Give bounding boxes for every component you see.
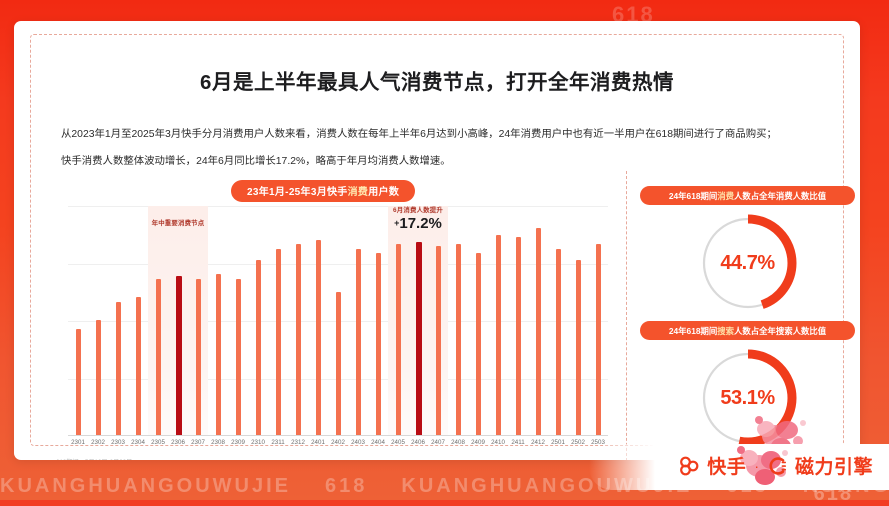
x-axis-tick-label: 2311 (271, 439, 284, 446)
chart-bar (456, 244, 461, 435)
x-axis-tick-label: 2411 (511, 439, 524, 446)
x-axis-tick-label: 2402 (331, 439, 345, 446)
chart-annotation-june-growth: 6月消费人数提升 +17.2% (371, 205, 465, 233)
pill-prefix: 24年618期间 (669, 191, 717, 201)
summary-line-1: 从2023年1月至2025年3月快手分月消费用户人数来看，消费人数在每年上半年6… (61, 121, 851, 148)
chart-bar (436, 246, 441, 435)
chart-bar (496, 235, 501, 435)
vertical-divider (626, 171, 627, 460)
brand-name-kuaishou: 快手 (707, 452, 746, 479)
pill-highlight: 搜索 (717, 326, 734, 336)
bar-chart-panel: 23年1月-25年3月快手消费用户数 230123022303230423052… (56, 171, 616, 460)
chart-bar (356, 249, 361, 435)
donut-title-pill: 24年618期间搜索人数占全年搜索人数比值 (640, 321, 855, 340)
x-axis-tick-label: 2409 (471, 439, 485, 446)
x-axis-tick-label: 2502 (571, 439, 585, 446)
chart-bar (336, 292, 341, 435)
donut-chart: 44.7% (695, 210, 801, 316)
bar-chart-plot-area (68, 206, 608, 436)
chart-bar (396, 244, 401, 435)
chart-bar (116, 302, 121, 435)
x-axis-tick-label: 2410 (491, 439, 505, 446)
x-axis-tick-label: 2303 (111, 439, 125, 446)
watermark-token: KUANGHUANGOUWUJIE (0, 475, 291, 497)
x-axis-tick-label: 2302 (91, 439, 105, 446)
x-axis-tick-label: 2412 (531, 439, 545, 446)
brand-logos: 快手 · 磁力引擎 (679, 452, 873, 479)
chart-annotation-mid-year: 年中重要消费节点 (133, 218, 223, 227)
chart-footnote: 618期间：5月10日-6月20日 (56, 457, 132, 460)
brand-name-magnetic-engine: 磁力引擎 (795, 452, 873, 479)
annotation-caption: 年中重要消费节点 (133, 218, 223, 227)
chart-bar-highlighted (176, 276, 182, 435)
x-axis-tick-label: 2408 (451, 439, 465, 446)
legend-highlight: 消费 (348, 187, 369, 198)
chart-bar (236, 279, 241, 435)
chart-bar (536, 228, 541, 435)
x-axis-tick-label: 2310 (251, 439, 265, 446)
chart-bar (476, 253, 481, 435)
chart-bar (596, 244, 601, 435)
annotation-value: +17.2% (371, 214, 465, 233)
pill-prefix: 24年618期间 (669, 326, 717, 336)
x-axis-tick-label: 2404 (371, 439, 385, 446)
pill-suffix: 人数占全年消费人数比值 (734, 191, 826, 201)
x-axis-labels: 2301230223032304230523062307230823092310… (68, 439, 608, 453)
brand-618-watermark: 618 (814, 483, 853, 506)
chart-bar-highlighted (416, 242, 422, 435)
chart-bar (136, 297, 141, 435)
chart-legend-pill: 23年1月-25年3月快手消费用户数 (231, 180, 415, 202)
chart-bar (576, 260, 581, 435)
x-axis-tick-label: 2309 (231, 439, 245, 446)
x-axis-tick-label: 2301 (71, 439, 85, 446)
content-card: 6月是上半年最具人气消费节点，打开全年消费热情 从2023年1月至2025年3月… (14, 21, 860, 460)
chart-bar (516, 237, 521, 435)
summary-paragraph: 从2023年1月至2025年3月快手分月消费用户人数来看，消费人数在每年上半年6… (61, 121, 851, 175)
brand-separator-dot: · (754, 458, 759, 474)
x-axis-tick-label: 2406 (411, 439, 425, 446)
x-axis-tick-label: 2307 (191, 439, 205, 446)
legend-prefix: 23年1月-25年3月快手 (247, 187, 348, 198)
x-axis-tick-label: 2306 (171, 439, 185, 446)
chart-bar (556, 249, 561, 435)
x-axis-tick-label: 2405 (391, 439, 405, 446)
chart-bar (76, 329, 81, 435)
chart-bar (296, 244, 301, 435)
chart-bar (216, 274, 221, 435)
chart-x-axis (68, 435, 608, 436)
x-axis-tick-label: 2308 (211, 439, 225, 446)
x-axis-tick-label: 2312 (291, 439, 305, 446)
kuaishou-logo-icon (679, 456, 699, 476)
pill-highlight: 消费 (717, 191, 734, 201)
chart-bar (376, 253, 381, 435)
chart-bar (316, 240, 321, 436)
x-axis-tick-label: 2403 (351, 439, 365, 446)
chart-bar (156, 279, 161, 435)
legend-suffix: 用户数 (368, 187, 399, 198)
donut-title-pill: 24年618期间消费人数占全年消费人数比值 (640, 186, 855, 205)
chart-bar (196, 279, 201, 435)
x-axis-tick-label: 2304 (131, 439, 145, 446)
chart-bar (96, 320, 101, 435)
x-axis-tick-label: 2305 (151, 439, 165, 446)
x-axis-tick-label: 2407 (431, 439, 445, 446)
chart-bar (256, 260, 261, 435)
page-title: 6月是上半年最具人气消费节点，打开全年消费热情 (14, 65, 860, 95)
magnetic-engine-logo-icon (767, 456, 787, 476)
donut-value: 44.7% (695, 210, 801, 316)
x-axis-tick-label: 2401 (311, 439, 325, 446)
chart-bar (276, 249, 281, 435)
annotation-caption: 6月消费人数提升 (371, 205, 465, 214)
x-axis-tick-label: 2501 (551, 439, 565, 446)
watermark-token: 618 (325, 475, 367, 497)
pill-suffix: 人数占全年搜索人数比值 (734, 326, 826, 336)
